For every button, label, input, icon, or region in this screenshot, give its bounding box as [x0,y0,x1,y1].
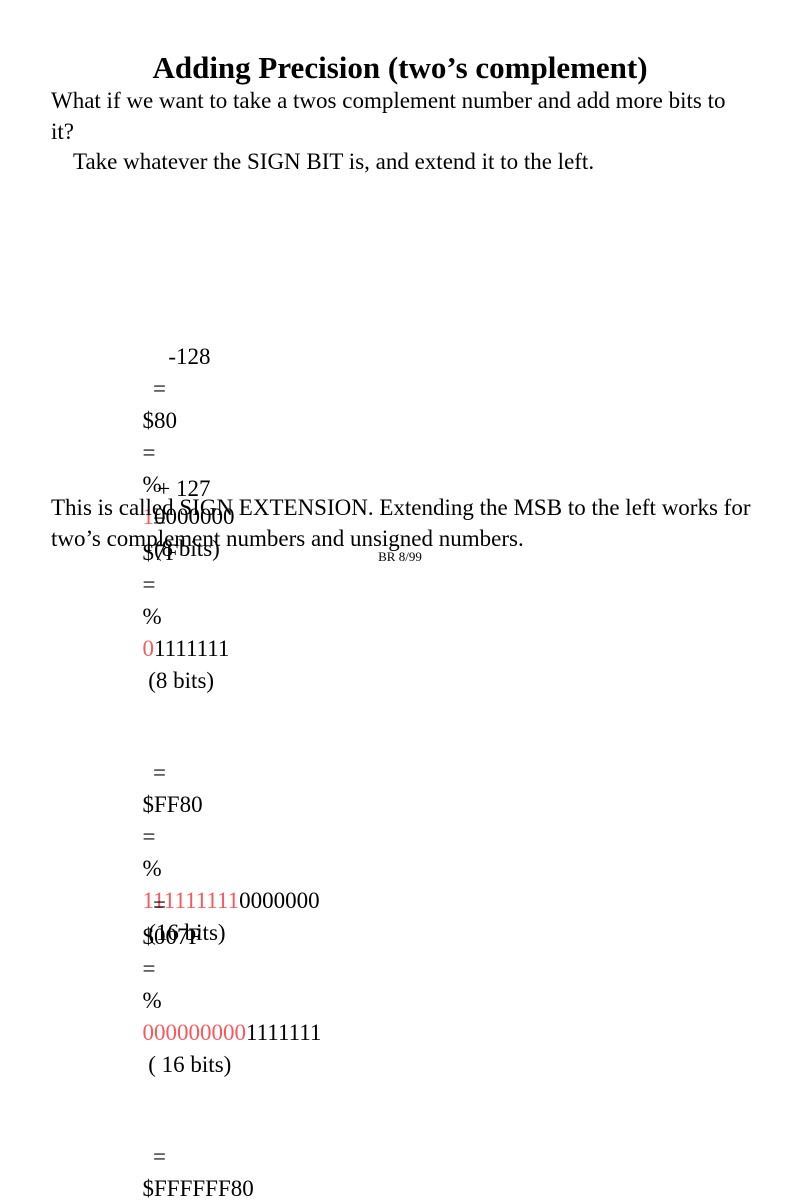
calc-block-plus-127: + 127 = $7F = % 01111111 (8 bits) = $007… [108,345,321,1200]
percent-sign: % [143,985,167,1017]
percent-sign: % [143,601,167,633]
calc-row: + 127 = $7F = % 01111111 (8 bits) [108,441,321,729]
binary-value: 01111111 [143,633,230,665]
closing-paragraph: This is called SIGN EXTENSION. Extending… [51,493,751,554]
binary-value: 0000000001111111 [143,1017,322,1049]
equals-sign: = [143,953,169,985]
bit-width-label: (8 bits) [148,668,214,693]
bit-width-label: ( 16 bits) [148,1052,231,1077]
equals-sign: = [143,889,177,921]
intro-line-1: What if we want to take a twos complemen… [51,88,725,144]
equals-sign: = [143,569,169,601]
intro-paragraph: What if we want to take a twos complemen… [51,86,741,178]
binary-remainder: 1111111 [154,636,229,661]
sign-extension-bits: 0 [143,636,155,661]
slide-footer: BR 8/99 [0,548,800,566]
page-title: Adding Precision (two’s complement) [0,48,800,88]
binary-remainder: 1111111 [246,1020,321,1045]
sign-extension-bits: 000000000 [143,1020,247,1045]
hex-value: $007F [143,921,243,953]
slide-canvas: Adding Precision (two’s complement) What… [0,0,800,600]
intro-line-2: Take whatever the SIGN BIT is, and exten… [51,147,741,178]
calc-row: = $007F = % 0000000001111111 ( 16 bits) [108,825,321,1113]
